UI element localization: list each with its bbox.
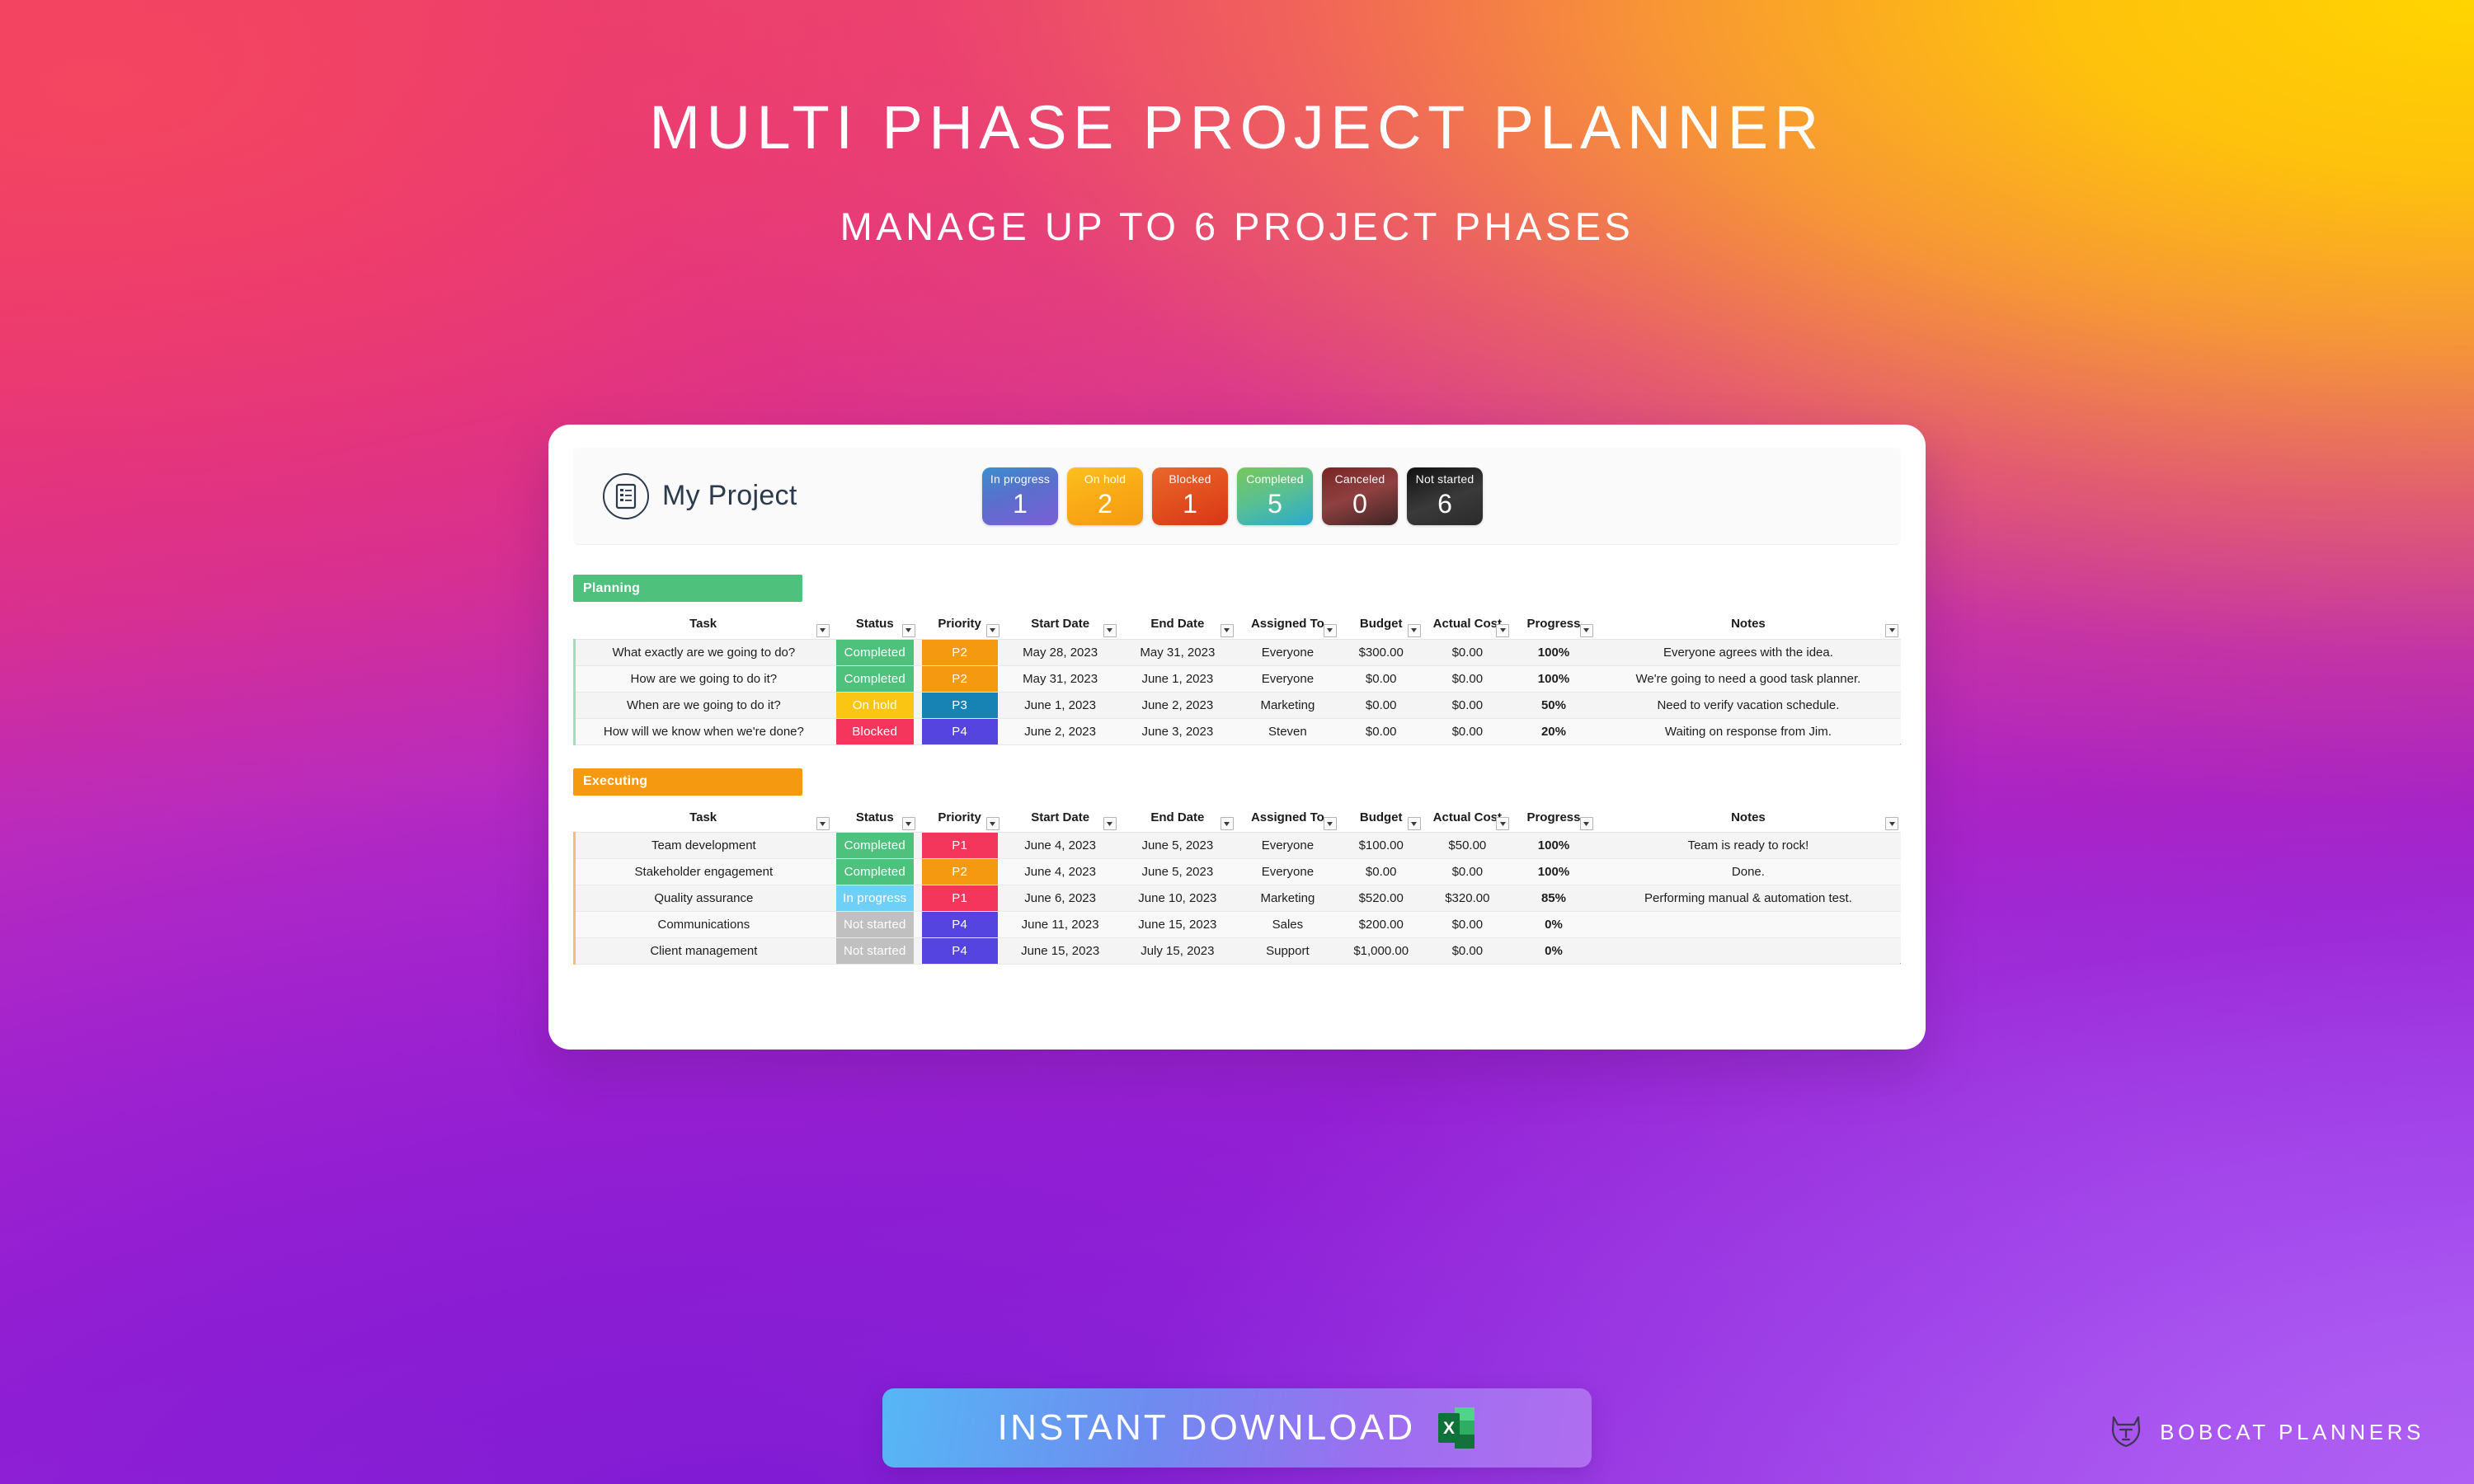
- cell-start-date[interactable]: June 2, 2023: [1002, 718, 1119, 744]
- cell-notes[interactable]: Need to verify vacation schedule.: [1596, 692, 1901, 718]
- brand-lockup: BOBCAT PLANNERS: [2107, 1411, 2425, 1453]
- column-header-label: Start Date: [1031, 810, 1089, 824]
- cell-assigned-to[interactable]: Everyone: [1236, 833, 1339, 859]
- cell-end-date[interactable]: June 5, 2023: [1119, 859, 1236, 885]
- cell-actual-cost[interactable]: $0.00: [1423, 938, 1512, 965]
- column-header-progress: Progress: [1512, 803, 1596, 833]
- column-header-budget: Budget: [1339, 609, 1423, 639]
- column-header-label: Assigned To: [1251, 617, 1324, 631]
- cell-priority[interactable]: P4: [918, 938, 1002, 965]
- svg-text:X: X: [1443, 1419, 1455, 1438]
- cell-notes[interactable]: [1596, 912, 1901, 938]
- status-badge-label: On hold: [1084, 473, 1126, 485]
- cell-start-date[interactable]: June 15, 2023: [1002, 938, 1119, 965]
- clipboard-list-icon: [603, 473, 649, 519]
- status-badge-count: 5: [1268, 491, 1282, 517]
- table-row[interactable]: How will we know when we're done?Blocked…: [575, 718, 1902, 744]
- cell-status[interactable]: Completed: [832, 859, 918, 885]
- cell-assigned-to[interactable]: Everyone: [1236, 859, 1339, 885]
- priority-pill: P2: [922, 666, 998, 692]
- column-header-budget: Budget: [1339, 803, 1423, 833]
- column-header-status: Status: [832, 609, 918, 639]
- column-header-label: Notes: [1731, 810, 1766, 824]
- cell-status[interactable]: Completed: [832, 665, 918, 692]
- filter-dropdown-icon[interactable]: [1408, 624, 1421, 637]
- cell-progress[interactable]: 85%: [1512, 885, 1596, 912]
- cell-task[interactable]: Quality assurance: [575, 885, 832, 912]
- priority-pill: P2: [922, 859, 998, 885]
- cell-start-date[interactable]: June 1, 2023: [1002, 692, 1119, 718]
- cell-notes[interactable]: Waiting on response from Jim.: [1596, 718, 1901, 744]
- table-row[interactable]: Client managementNot startedP4June 15, 2…: [575, 938, 1902, 965]
- cell-task[interactable]: How are we going to do it?: [575, 665, 832, 692]
- priority-pill: P1: [922, 833, 998, 858]
- cell-start-date[interactable]: May 28, 2023: [1002, 639, 1119, 665]
- column-header-label: Budget: [1360, 810, 1403, 824]
- column-header-start-date: Start Date: [1002, 609, 1119, 639]
- cell-budget[interactable]: $100.00: [1339, 833, 1423, 859]
- status-badge-label: Blocked: [1169, 473, 1211, 485]
- cell-task[interactable]: Team development: [575, 833, 832, 859]
- cell-notes[interactable]: Everyone agrees with the idea.: [1596, 639, 1901, 665]
- cell-progress[interactable]: 100%: [1512, 859, 1596, 885]
- cell-start-date[interactable]: June 4, 2023: [1002, 859, 1119, 885]
- filter-dropdown-icon[interactable]: [1580, 624, 1593, 637]
- app-toolbar: My Project In progress1On hold2Blocked1C…: [573, 448, 1901, 545]
- status-pill: In progress: [836, 885, 914, 911]
- filter-dropdown-icon[interactable]: [1103, 624, 1117, 637]
- excel-icon: X: [1437, 1406, 1476, 1450]
- cell-notes[interactable]: Team is ready to rock!: [1596, 833, 1901, 859]
- cell-actual-cost[interactable]: $0.00: [1423, 912, 1512, 938]
- filter-dropdown-icon[interactable]: [1408, 817, 1421, 830]
- cell-end-date[interactable]: June 1, 2023: [1119, 665, 1236, 692]
- column-header-label: Notes: [1731, 617, 1766, 631]
- column-header-notes: Notes: [1596, 609, 1901, 639]
- column-header-label: Progress: [1526, 617, 1580, 631]
- cell-priority[interactable]: P4: [918, 912, 1002, 938]
- cell-progress[interactable]: 20%: [1512, 718, 1596, 744]
- cell-priority[interactable]: P2: [918, 639, 1002, 665]
- priority-pill: P2: [922, 640, 998, 665]
- priority-pill: P4: [922, 938, 998, 964]
- cell-status[interactable]: Not started: [832, 912, 918, 938]
- cell-actual-cost[interactable]: $320.00: [1423, 885, 1512, 912]
- status-badge-blocked[interactable]: Blocked1: [1152, 467, 1228, 525]
- cell-budget[interactable]: $0.00: [1339, 692, 1423, 718]
- cell-end-date[interactable]: June 2, 2023: [1119, 692, 1236, 718]
- cell-status[interactable]: In progress: [832, 885, 918, 912]
- column-header-label: Budget: [1360, 617, 1403, 631]
- cell-assigned-to[interactable]: Marketing: [1236, 692, 1339, 718]
- instant-download-button[interactable]: INSTANT DOWNLOAD X: [882, 1388, 1592, 1468]
- phases-container: PlanningTaskStatusPriorityStart DateEnd …: [573, 575, 1901, 965]
- cell-progress[interactable]: 100%: [1512, 833, 1596, 859]
- column-header-label: Priority: [938, 810, 981, 824]
- cell-actual-cost[interactable]: $0.00: [1423, 718, 1512, 744]
- priority-pill: P4: [922, 912, 998, 937]
- page-title: MULTI PHASE PROJECT PLANNER: [0, 97, 2474, 158]
- filter-dropdown-icon[interactable]: [1496, 624, 1509, 637]
- cell-budget[interactable]: $520.00: [1339, 885, 1423, 912]
- cell-notes[interactable]: Performing manual & automation test.: [1596, 885, 1901, 912]
- table-row[interactable]: What exactly are we going to do?Complete…: [575, 639, 1902, 665]
- cell-progress[interactable]: 0%: [1512, 938, 1596, 965]
- cell-actual-cost[interactable]: $0.00: [1423, 692, 1512, 718]
- filter-dropdown-icon[interactable]: [1221, 817, 1234, 830]
- column-header-start-date: Start Date: [1002, 803, 1119, 833]
- cell-end-date[interactable]: May 31, 2023: [1119, 639, 1236, 665]
- column-header-actual-cost: Actual Cost: [1423, 803, 1512, 833]
- cell-assigned-to[interactable]: Everyone: [1236, 639, 1339, 665]
- cell-end-date[interactable]: June 10, 2023: [1119, 885, 1236, 912]
- table-row[interactable]: Quality assuranceIn progressP1June 6, 20…: [575, 885, 1902, 912]
- filter-dropdown-icon[interactable]: [902, 817, 915, 830]
- status-pill: Not started: [836, 938, 914, 964]
- column-header-notes: Notes: [1596, 803, 1901, 833]
- phase-section-planning: PlanningTaskStatusPriorityStart DateEnd …: [573, 575, 1901, 745]
- table-row[interactable]: CommunicationsNot startedP4June 11, 2023…: [575, 912, 1902, 938]
- status-badge-canceled[interactable]: Canceled0: [1322, 467, 1398, 525]
- phase-banner: Planning: [573, 575, 802, 602]
- status-badge-count: 6: [1437, 491, 1452, 517]
- cell-priority[interactable]: P2: [918, 665, 1002, 692]
- status-badge-count: 2: [1098, 491, 1112, 517]
- page-subtitle: MANAGE UP TO 6 PROJECT PHASES: [0, 204, 2474, 249]
- column-header-task: Task: [575, 803, 832, 833]
- filter-dropdown-icon[interactable]: [1221, 624, 1234, 637]
- filter-dropdown-icon[interactable]: [1496, 817, 1509, 830]
- table-row[interactable]: How are we going to do it?CompletedP2May…: [575, 665, 1902, 692]
- filter-dropdown-icon[interactable]: [1324, 624, 1337, 637]
- phase-table: TaskStatusPriorityStart DateEnd DateAssi…: [573, 609, 1901, 745]
- cell-task[interactable]: When are we going to do it?: [575, 692, 832, 718]
- column-header-label: Progress: [1526, 810, 1580, 824]
- cell-start-date[interactable]: June 4, 2023: [1002, 833, 1119, 859]
- app-screenshot-card: My Project In progress1On hold2Blocked1C…: [548, 425, 1926, 1050]
- column-header-label: Task: [689, 617, 717, 631]
- filter-dropdown-icon[interactable]: [816, 624, 830, 637]
- column-header-label: Assigned To: [1251, 810, 1324, 824]
- filter-dropdown-icon[interactable]: [986, 624, 999, 637]
- status-badge-label: Canceled: [1335, 473, 1385, 485]
- cell-actual-cost[interactable]: $0.00: [1423, 639, 1512, 665]
- cell-assigned-to[interactable]: Sales: [1236, 912, 1339, 938]
- cell-status[interactable]: Completed: [832, 639, 918, 665]
- column-header-priority: Priority: [918, 803, 1002, 833]
- column-header-label: Status: [856, 617, 894, 631]
- column-header-assigned-to: Assigned To: [1236, 609, 1339, 639]
- phase-banner: Executing: [573, 768, 802, 796]
- column-header-label: Actual Cost: [1433, 617, 1502, 631]
- cell-end-date[interactable]: July 15, 2023: [1119, 938, 1236, 965]
- filter-dropdown-icon[interactable]: [1885, 817, 1898, 830]
- project-identity: My Project: [603, 473, 982, 519]
- priority-pill: P3: [922, 693, 998, 718]
- cell-notes[interactable]: [1596, 938, 1901, 965]
- project-title: My Project: [662, 480, 797, 512]
- status-pill: Completed: [836, 666, 914, 692]
- cell-status[interactable]: Not started: [832, 938, 918, 965]
- cell-start-date[interactable]: June 6, 2023: [1002, 885, 1119, 912]
- status-badge-count: 0: [1352, 491, 1367, 517]
- cell-actual-cost[interactable]: $0.00: [1423, 665, 1512, 692]
- instant-download-label: INSTANT DOWNLOAD: [998, 1407, 1416, 1449]
- table-row[interactable]: Stakeholder engagementCompletedP2June 4,…: [575, 859, 1902, 885]
- column-header-label: End Date: [1150, 810, 1204, 824]
- cell-budget[interactable]: $300.00: [1339, 639, 1423, 665]
- cell-status[interactable]: Completed: [832, 833, 918, 859]
- cell-assigned-to[interactable]: Marketing: [1236, 885, 1339, 912]
- status-badge-completed[interactable]: Completed5: [1237, 467, 1313, 525]
- cell-priority[interactable]: P1: [918, 885, 1002, 912]
- cell-priority[interactable]: P3: [918, 692, 1002, 718]
- bobcat-head-icon: [2107, 1411, 2145, 1453]
- status-badge-count: 1: [1183, 491, 1197, 517]
- filter-dropdown-icon[interactable]: [986, 817, 999, 830]
- cell-start-date[interactable]: June 11, 2023: [1002, 912, 1119, 938]
- filter-dropdown-icon[interactable]: [1580, 817, 1593, 830]
- phase-table: TaskStatusPriorityStart DateEnd DateAssi…: [573, 803, 1901, 965]
- cell-priority[interactable]: P1: [918, 833, 1002, 859]
- column-header-assigned-to: Assigned To: [1236, 803, 1339, 833]
- status-badge-count: 1: [1013, 491, 1028, 517]
- cell-end-date[interactable]: June 5, 2023: [1119, 833, 1236, 859]
- cell-end-date[interactable]: June 3, 2023: [1119, 718, 1236, 744]
- status-badge-label: In progress: [990, 473, 1050, 485]
- column-header-priority: Priority: [918, 609, 1002, 639]
- hero-section: MULTI PHASE PROJECT PLANNER MANAGE UP TO…: [0, 97, 2474, 249]
- cell-priority[interactable]: P2: [918, 859, 1002, 885]
- filter-dropdown-icon[interactable]: [902, 624, 915, 637]
- cell-task[interactable]: What exactly are we going to do?: [575, 639, 832, 665]
- phase-section-executing: ExecutingTaskStatusPriorityStart DateEnd…: [573, 768, 1901, 965]
- column-header-progress: Progress: [1512, 609, 1596, 639]
- cell-budget[interactable]: $1,000.00: [1339, 938, 1423, 965]
- cell-assigned-to[interactable]: Steven: [1236, 718, 1339, 744]
- cell-task[interactable]: Communications: [575, 912, 832, 938]
- cell-task[interactable]: How will we know when we're done?: [575, 718, 832, 744]
- status-badge-inprogress[interactable]: In progress1: [982, 467, 1058, 525]
- column-header-label: End Date: [1150, 617, 1204, 631]
- column-header-task: Task: [575, 609, 832, 639]
- table-row[interactable]: Team developmentCompletedP1June 4, 2023J…: [575, 833, 1902, 859]
- column-header-end-date: End Date: [1119, 803, 1236, 833]
- cell-progress[interactable]: 50%: [1512, 692, 1596, 718]
- cell-assigned-to[interactable]: Support: [1236, 938, 1339, 965]
- status-badge-label: Not started: [1416, 473, 1475, 485]
- column-header-label: Priority: [938, 617, 981, 631]
- column-header-status: Status: [832, 803, 918, 833]
- status-pill: On hold: [836, 693, 914, 718]
- cell-budget[interactable]: $200.00: [1339, 912, 1423, 938]
- column-header-label: Actual Cost: [1433, 810, 1502, 824]
- status-pill: Completed: [836, 859, 914, 885]
- status-pill: Not started: [836, 912, 914, 937]
- table-row[interactable]: When are we going to do it?On holdP3June…: [575, 692, 1902, 718]
- cell-actual-cost[interactable]: $50.00: [1423, 833, 1512, 859]
- status-badge-label: Completed: [1246, 473, 1304, 485]
- brand-name: BOBCAT PLANNERS: [2160, 1420, 2425, 1445]
- cell-end-date[interactable]: June 15, 2023: [1119, 912, 1236, 938]
- cell-budget[interactable]: $0.00: [1339, 859, 1423, 885]
- cell-assigned-to[interactable]: Everyone: [1236, 665, 1339, 692]
- cell-progress[interactable]: 100%: [1512, 665, 1596, 692]
- column-header-label: Task: [689, 810, 717, 824]
- status-badge-group: In progress1On hold2Blocked1Completed5Ca…: [982, 467, 1483, 525]
- column-header-actual-cost: Actual Cost: [1423, 609, 1512, 639]
- cell-start-date[interactable]: May 31, 2023: [1002, 665, 1119, 692]
- status-pill: Completed: [836, 833, 914, 858]
- column-header-label: Start Date: [1031, 617, 1089, 631]
- table-header-row: TaskStatusPriorityStart DateEnd DateAssi…: [575, 803, 1902, 833]
- column-header-end-date: End Date: [1119, 609, 1236, 639]
- column-header-label: Status: [856, 810, 894, 824]
- cell-priority[interactable]: P4: [918, 718, 1002, 744]
- cell-progress[interactable]: 100%: [1512, 639, 1596, 665]
- cell-budget[interactable]: $0.00: [1339, 718, 1423, 744]
- cell-status[interactable]: On hold: [832, 692, 918, 718]
- status-badge-onhold[interactable]: On hold2: [1067, 467, 1143, 525]
- filter-dropdown-icon[interactable]: [816, 817, 830, 830]
- filter-dropdown-icon[interactable]: [1103, 817, 1117, 830]
- cell-progress[interactable]: 0%: [1512, 912, 1596, 938]
- filter-dropdown-icon[interactable]: [1324, 817, 1337, 830]
- cell-notes[interactable]: Done.: [1596, 859, 1901, 885]
- cell-task[interactable]: Stakeholder engagement: [575, 859, 832, 885]
- status-pill: Completed: [836, 640, 914, 665]
- cell-actual-cost[interactable]: $0.00: [1423, 859, 1512, 885]
- cell-budget[interactable]: $0.00: [1339, 665, 1423, 692]
- status-badge-notstarted[interactable]: Not started6: [1407, 467, 1483, 525]
- cell-notes[interactable]: We're going to need a good task planner.: [1596, 665, 1901, 692]
- filter-dropdown-icon[interactable]: [1885, 624, 1898, 637]
- priority-pill: P1: [922, 885, 998, 911]
- status-pill: Blocked: [836, 719, 914, 744]
- cell-task[interactable]: Client management: [575, 938, 832, 965]
- table-header-row: TaskStatusPriorityStart DateEnd DateAssi…: [575, 609, 1902, 639]
- priority-pill: P4: [922, 719, 998, 744]
- cell-status[interactable]: Blocked: [832, 718, 918, 744]
